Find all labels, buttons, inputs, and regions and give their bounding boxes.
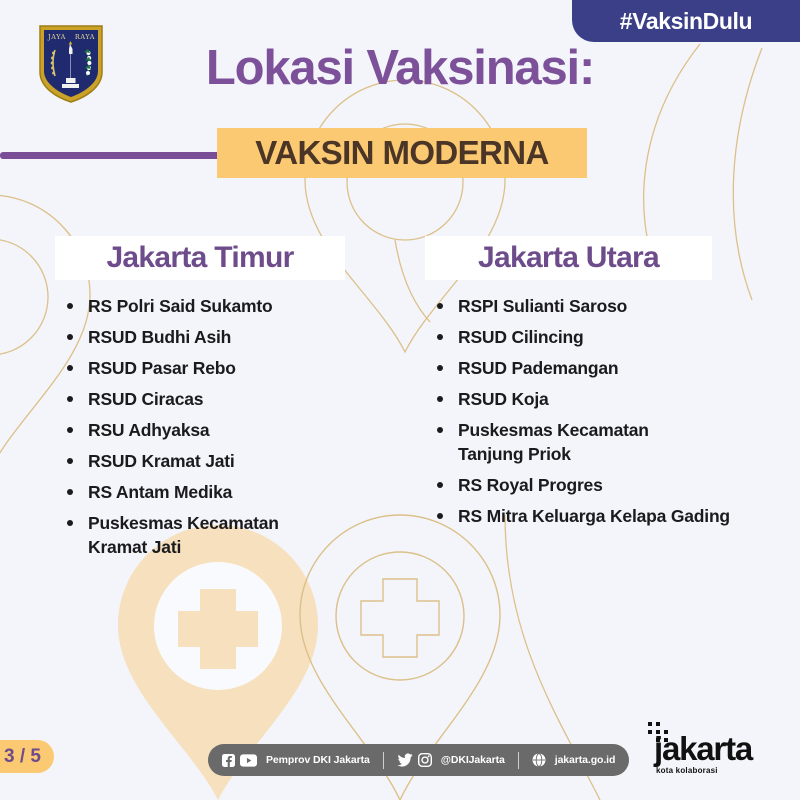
social-group-twitter-instagram[interactable]: @DKIJakarta — [397, 753, 505, 767]
hashtag-banner: #VaksinDulu — [572, 0, 800, 42]
social-label-facebook-youtube: Pemprov DKI Jakarta — [266, 754, 370, 766]
page-indicator: 3 / 5 — [0, 740, 54, 773]
location-list: RSPI Sulianti Saroso RSUD Cilincing RSUD… — [425, 294, 775, 528]
list-item: RSUD Ciracas — [55, 387, 400, 411]
list-item: RS Antam Medika — [55, 480, 400, 504]
region-heading-label: Jakarta Utara — [478, 241, 659, 275]
youtube-icon[interactable] — [240, 754, 257, 767]
list-item: RS Royal Progres — [425, 473, 775, 497]
list-item: RSUD Kramat Jati — [55, 449, 400, 473]
subtitle-rule — [0, 152, 224, 159]
region-heading-band: Jakarta Utara — [425, 236, 712, 280]
region-heading-label: Jakarta Timur — [106, 241, 293, 275]
list-item: RSUD Pademangan — [425, 356, 775, 380]
region-heading-band: Jakarta Timur — [55, 236, 345, 280]
region-column-jakarta-timur: Jakarta Timur RS Polri Said Sukamto RSUD… — [55, 236, 400, 566]
social-label-twitter-instagram: @DKIJakarta — [441, 754, 505, 766]
social-group-website[interactable]: jakarta.go.id — [532, 753, 616, 767]
vaccine-type-label: VAKSIN MODERNA — [255, 134, 549, 172]
list-item: RSPI Sulianti Saroso — [425, 294, 775, 318]
list-item: RSU Adhyaksa — [55, 418, 400, 442]
divider — [518, 752, 519, 769]
jakarta-brand-logo: jakarta kota kolaborasi — [632, 722, 772, 778]
page-title: Lokasi Vaksinasi: — [0, 40, 800, 96]
social-group-facebook-youtube[interactable]: Pemprov DKI Jakarta — [222, 754, 370, 767]
globe-icon[interactable] — [532, 753, 546, 767]
list-item: Puskesmas Kecamatan Tanjung Priok — [425, 418, 775, 466]
jakarta-tagline: kota kolaborasi — [656, 766, 718, 775]
page-indicator-label: 3 / 5 — [4, 746, 41, 768]
vaccine-type-banner: VAKSIN MODERNA — [217, 128, 587, 178]
list-item: RS Mitra Keluarga Kelapa Gading — [425, 504, 775, 528]
facebook-icon[interactable] — [222, 754, 235, 767]
list-item: RSUD Cilincing — [425, 325, 775, 349]
vaccination-location-poster: #VaksinDulu JAYA RAYA — [0, 0, 800, 800]
location-list: RS Polri Said Sukamto RSUD Budhi Asih RS… — [55, 294, 400, 559]
divider — [383, 752, 384, 769]
instagram-icon[interactable] — [418, 753, 432, 767]
jakarta-wordmark: jakarta — [654, 732, 752, 765]
region-column-jakarta-utara: Jakarta Utara RSPI Sulianti Saroso RSUD … — [425, 236, 775, 535]
twitter-icon[interactable] — [397, 753, 413, 767]
social-media-bar: Pemprov DKI Jakarta @DKIJakarta — [208, 744, 629, 776]
list-item: RSUD Pasar Rebo — [55, 356, 400, 380]
social-label-website: jakarta.go.id — [555, 754, 616, 766]
list-item: RSUD Budhi Asih — [55, 325, 400, 349]
hashtag-label: #VaksinDulu — [620, 8, 752, 35]
list-item: Puskesmas Kecamatan Kramat Jati — [55, 511, 400, 559]
list-item: RSUD Koja — [425, 387, 775, 411]
list-item: RS Polri Said Sukamto — [55, 294, 400, 318]
